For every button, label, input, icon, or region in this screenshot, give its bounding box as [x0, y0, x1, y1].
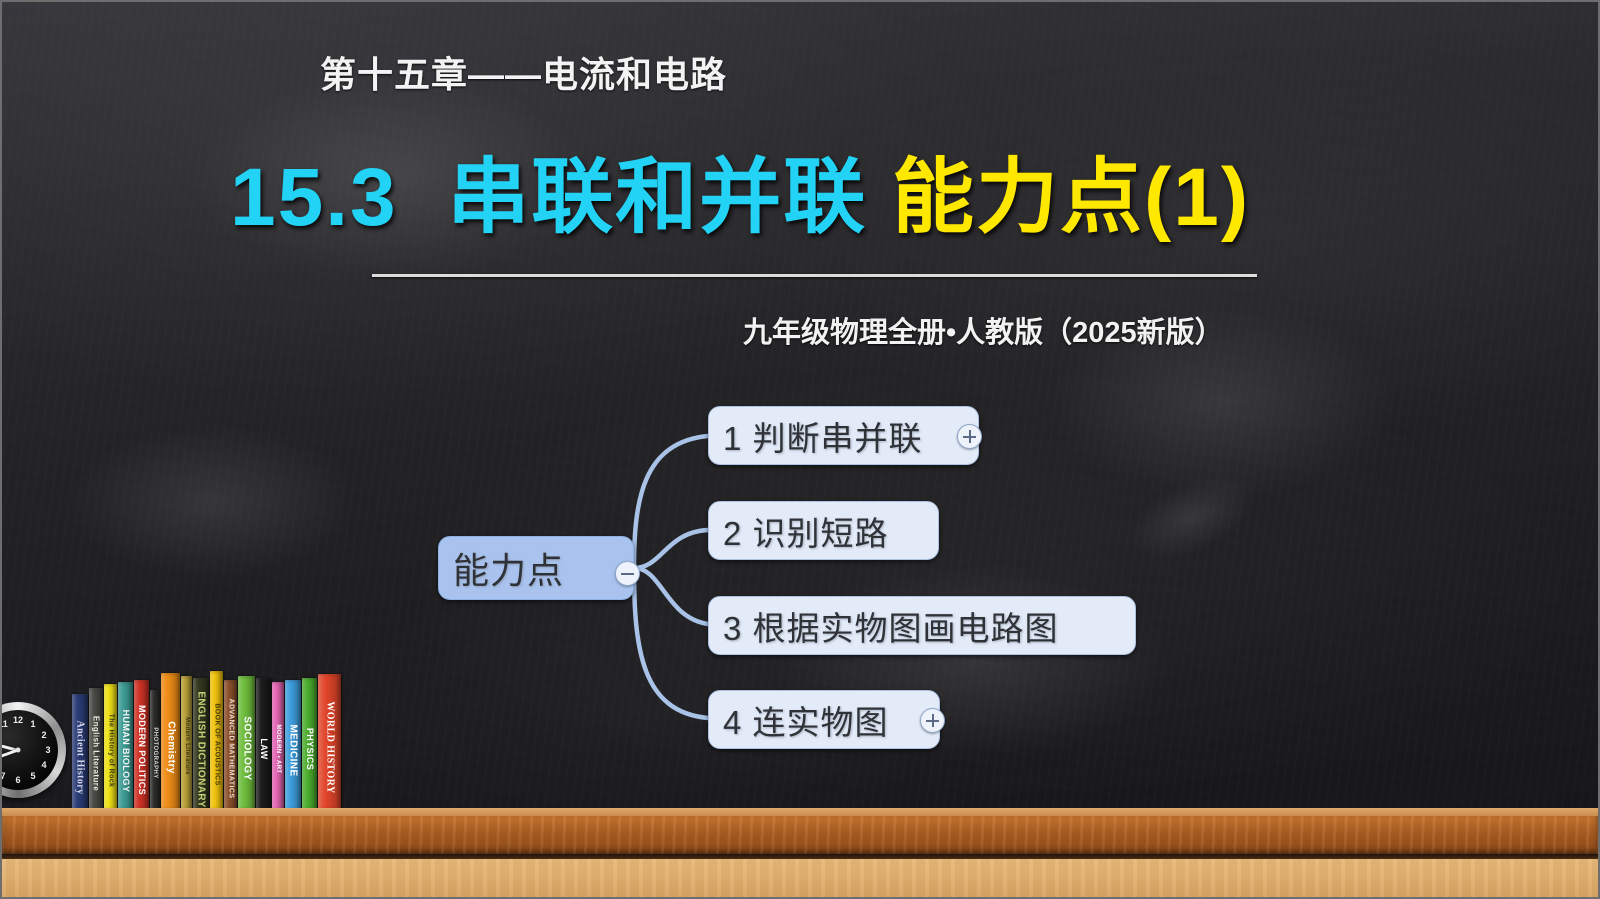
- plus-bar-v: [969, 430, 971, 443]
- desk-clock: 121234567891011: [4, 702, 70, 808]
- book-spine: LAW: [256, 678, 271, 810]
- desk-surface: [2, 859, 1598, 897]
- book-title: MODERN • ART: [275, 724, 281, 773]
- book-spine: MEDICINE: [285, 680, 301, 810]
- mindmap-child-node-2[interactable]: 2 识别短路: [708, 501, 939, 560]
- connector-root-to-child-3: [634, 568, 708, 624]
- book-title: PHOTOGRAPHY: [152, 727, 158, 778]
- minus-circle-icon[interactable]: [615, 561, 640, 586]
- book-spine: Ancient History: [72, 694, 88, 810]
- book-title: WORLD HISTORY: [324, 701, 335, 793]
- clock-face: 121234567891011: [0, 710, 58, 790]
- plus-circle-icon[interactable]: [920, 708, 945, 733]
- clock-numeral: 3: [45, 745, 50, 755]
- book-spine: BOOK OF ACOUSTICS: [210, 671, 223, 810]
- book-spine: HUMAN BIOLOGY: [118, 682, 133, 810]
- book-title: PHYSICS: [305, 728, 315, 770]
- book-spine: PHYSICS: [302, 678, 317, 810]
- book-title: BOOK OF ACOUSTICS: [213, 703, 220, 785]
- clock-numeral: 12: [13, 715, 23, 725]
- mindmap-root-node[interactable]: 能力点: [438, 536, 634, 600]
- connector-root-to-child-4: [634, 568, 708, 718]
- shelf-top-edge: [2, 808, 1598, 816]
- clock-pivot: [16, 748, 21, 753]
- book-spine: ENGLISH DICTIONARY: [193, 678, 209, 810]
- book-spine: MODERN • ART: [272, 682, 284, 810]
- book-spine: MODERN POLITICS: [134, 680, 149, 810]
- clock-numeral: 1: [30, 719, 35, 729]
- book-title: English Literature: [92, 716, 101, 791]
- book-spine: Modern Literature: [181, 676, 192, 810]
- book-title: MODERN POLITICS: [137, 705, 147, 795]
- book-title: ADVANCED MATHEMATICS: [227, 699, 234, 799]
- minus-bar: [621, 573, 634, 575]
- clock-numeral: 7: [0, 771, 5, 781]
- book-title: MEDICINE: [288, 724, 299, 776]
- clock-numeral: 11: [0, 719, 8, 729]
- slide-canvas: 第十五章——电流和电路 15.3 串联和并联 能力点(1) 九年级物理全册•人教…: [0, 0, 1600, 899]
- clock-numeral: 4: [41, 760, 46, 770]
- book-title: Modern Literature: [184, 717, 190, 775]
- book-spine: English Literature: [89, 688, 103, 810]
- mindmap-child-node-1[interactable]: 1 判断串并联: [708, 406, 979, 465]
- bookshelf-books: Ancient HistoryEnglish LiteratureThe His…: [72, 674, 377, 810]
- book-spine: ADVANCED MATHEMATICS: [224, 680, 237, 810]
- book-title: ENGLISH DICTIONARY: [196, 691, 207, 807]
- mindmap-child-label-4: 4 连实物图: [723, 696, 889, 744]
- clock-numeral: 5: [30, 771, 35, 781]
- mindmap-child-label-3: 3 根据实物图画电路图: [723, 602, 1059, 650]
- book-title: The History of Rock: [107, 714, 114, 788]
- clock-ring: 121234567891011: [0, 702, 66, 798]
- plus-bar-v: [932, 714, 934, 727]
- clock-numeral: 6: [15, 775, 20, 785]
- plus-circle-icon[interactable]: [957, 424, 982, 449]
- mindmap-child-label-1: 1 判断串并联: [723, 412, 923, 460]
- mindmap-child-node-4[interactable]: 4 连实物图: [708, 690, 940, 749]
- book-spine: SOCIOLOGY: [238, 676, 255, 810]
- book-title: LAW: [259, 738, 269, 759]
- book-title: Chemistry: [165, 721, 176, 774]
- book-title: Ancient History: [75, 720, 86, 794]
- mindmap-root-label: 能力点: [453, 542, 564, 594]
- book-spine: WORLD HISTORY: [318, 674, 341, 810]
- connector-root-to-child-2: [634, 530, 708, 568]
- connector-root-to-child-1: [634, 436, 708, 568]
- book-title: HUMAN BIOLOGY: [121, 710, 131, 793]
- mindmap-child-label-2: 2 识别短路: [723, 507, 889, 555]
- wooden-shelf: [2, 816, 1598, 854]
- book-spine: PHOTOGRAPHY: [150, 690, 160, 810]
- book-title: SOCIOLOGY: [241, 716, 252, 780]
- book-spine: Chemistry: [161, 673, 180, 810]
- book-spine: The History of Rock: [104, 684, 117, 810]
- mindmap-child-node-3[interactable]: 3 根据实物图画电路图: [708, 596, 1136, 655]
- clock-numeral: 2: [41, 730, 46, 740]
